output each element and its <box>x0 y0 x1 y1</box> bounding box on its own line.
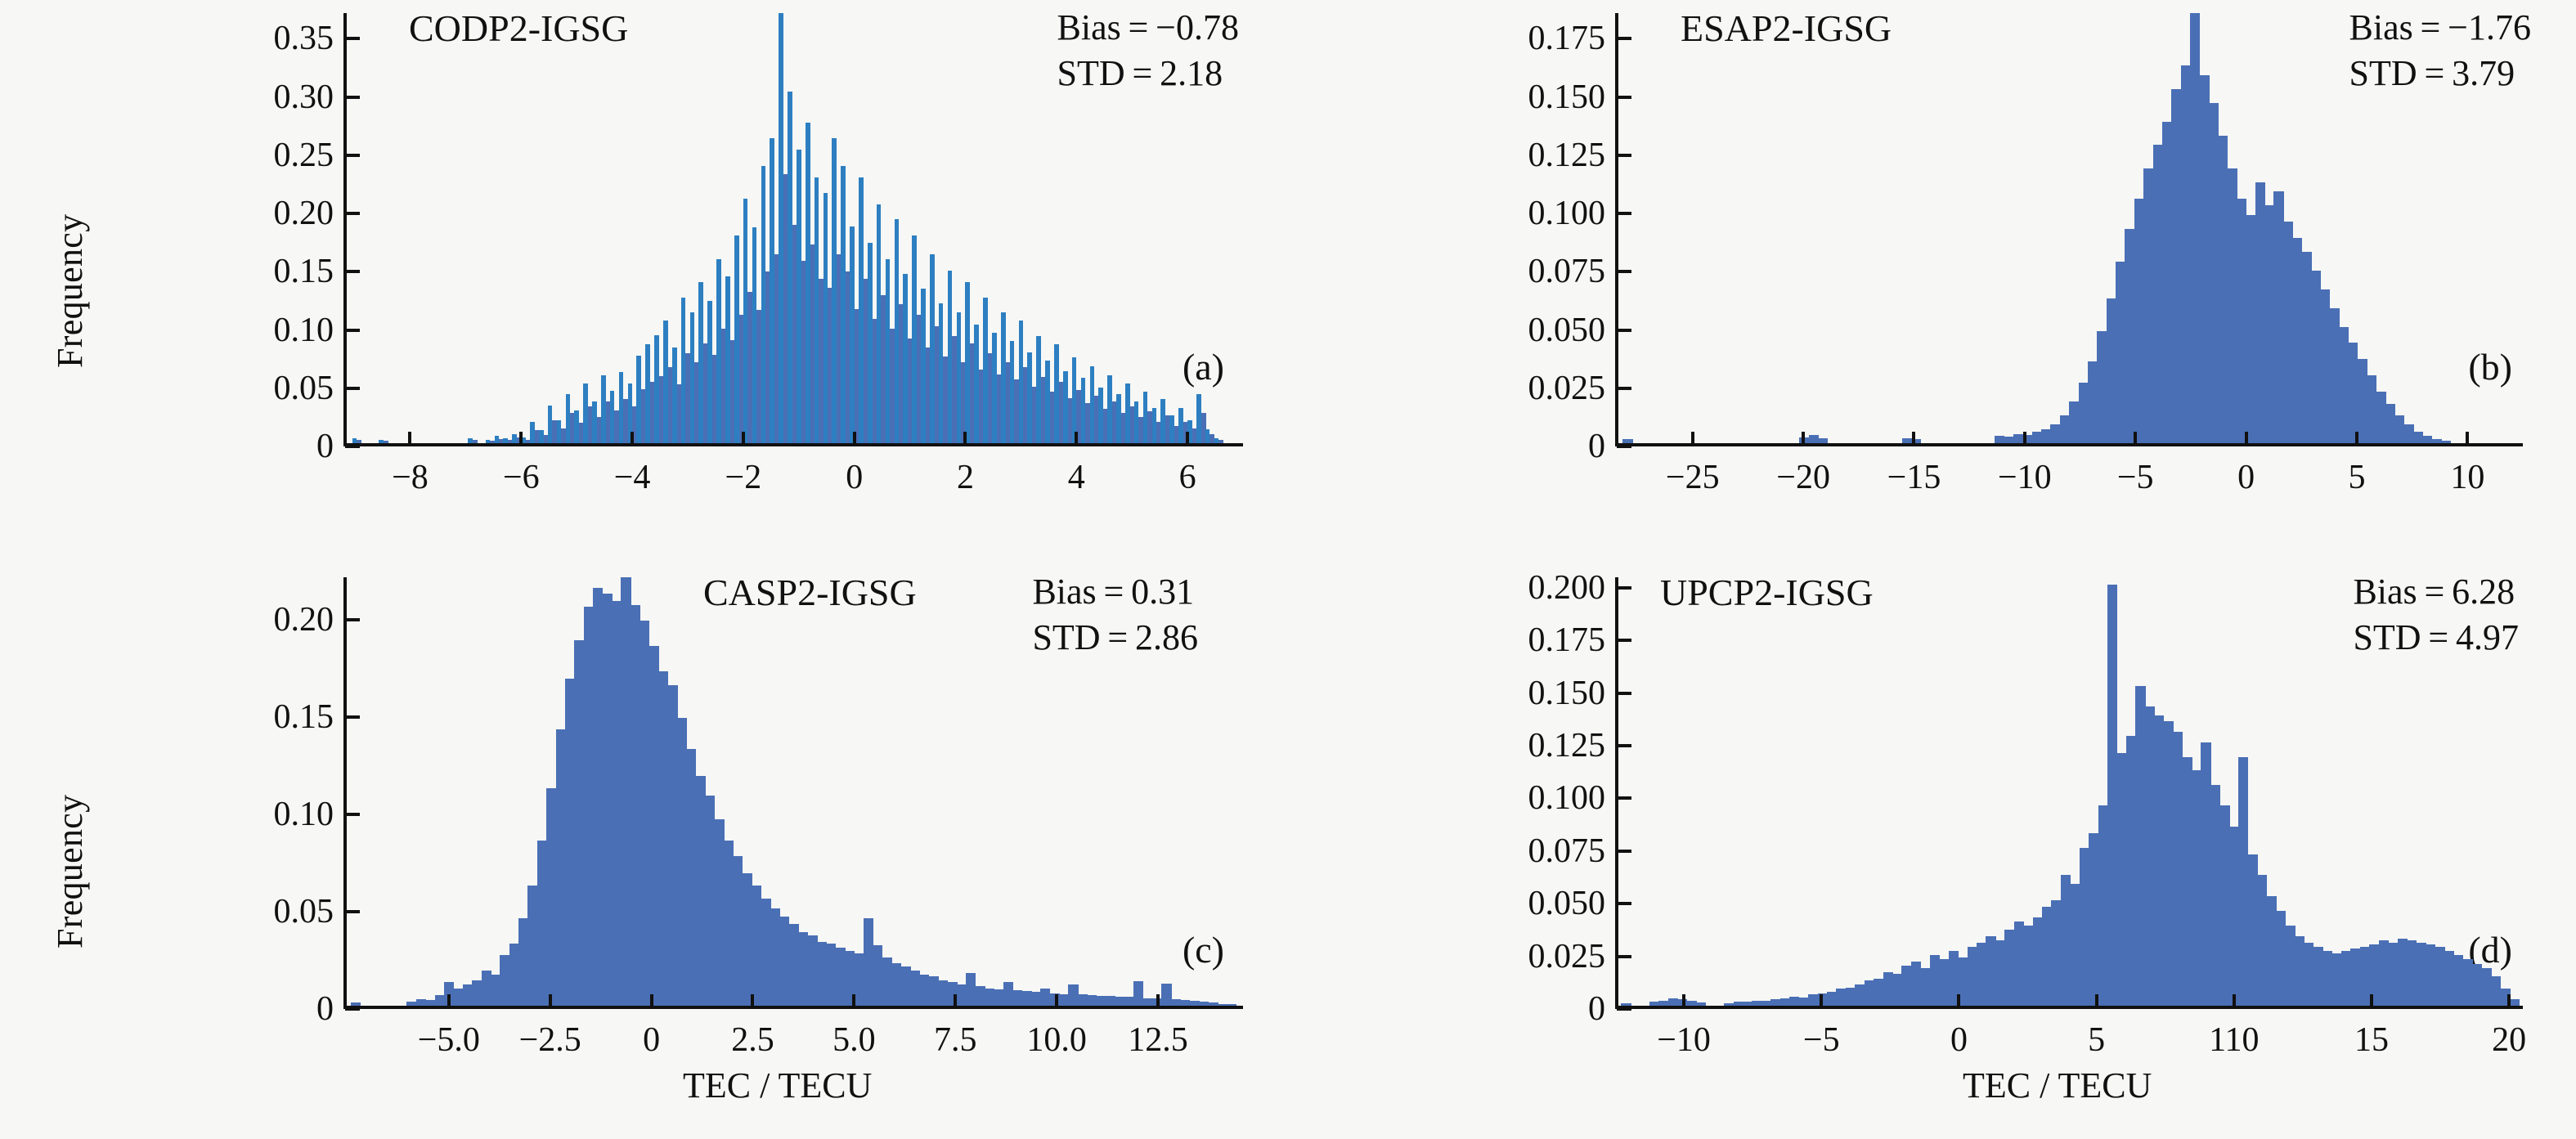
panel-d-ytick-mark <box>1617 850 1631 853</box>
histogram-bar <box>2183 757 2192 1006</box>
histogram-bar <box>574 410 579 443</box>
histogram-bar <box>841 166 846 443</box>
panel-c-xlabel: TEC / TECU <box>683 1065 872 1106</box>
histogram-bar <box>1208 1002 1218 1006</box>
histogram-bar <box>2209 103 2219 443</box>
histogram-bar <box>1827 992 1837 1006</box>
histogram-bar <box>2394 415 2404 443</box>
panel-b-bars <box>1618 13 2523 443</box>
histogram-bar <box>761 166 766 443</box>
histogram-bar <box>983 298 988 443</box>
panel-a: Frequency CODP2-IGSG Bias = −0.78 STD = … <box>0 0 1288 540</box>
histogram-bar <box>2080 848 2089 1006</box>
histogram-bar <box>1874 979 1883 1006</box>
histogram-bar <box>566 394 571 443</box>
histogram-bar <box>716 259 721 443</box>
histogram-bar <box>1001 312 1006 443</box>
panel-b-ytick-label: 0.150 <box>1425 78 1605 117</box>
histogram-bar <box>1134 401 1139 443</box>
panel-b-plot-area <box>1615 13 2523 446</box>
histogram-bar <box>2385 404 2395 443</box>
panel-d-xtick-label: 110 <box>2209 1020 2259 1060</box>
histogram-bar <box>2472 964 2482 1007</box>
histogram-bar <box>1911 962 1921 1006</box>
histogram-bar <box>1171 999 1181 1006</box>
panel-d-ytick-label: 0.100 <box>1425 778 1605 818</box>
histogram-bar <box>1761 1001 1771 1006</box>
histogram-bar <box>965 282 970 443</box>
panel-a-xtick-mark <box>519 432 523 445</box>
histogram-bar <box>2171 89 2181 443</box>
histogram-bar <box>2116 753 2126 1006</box>
histogram-bar <box>817 942 827 1006</box>
panel-d-ytick-label: 0.175 <box>1425 621 1605 660</box>
histogram-bar <box>2145 706 2155 1006</box>
histogram-bar <box>1019 321 1024 443</box>
histogram-bar <box>1977 943 1986 1006</box>
panel-a-xtick-mark <box>408 432 411 445</box>
histogram-bar <box>2079 383 2089 443</box>
histogram-bar <box>2350 948 2360 1006</box>
histogram-bar <box>2237 199 2246 443</box>
histogram-bar <box>557 420 562 443</box>
histogram-bar <box>1808 994 1818 1006</box>
panel-a-ytick-label: 0.20 <box>154 194 334 233</box>
histogram-bar <box>2014 922 2024 1006</box>
histogram-bar <box>1190 1001 1200 1006</box>
histogram-bar <box>1152 408 1157 443</box>
histogram-bar <box>663 321 668 443</box>
histogram-bar <box>2301 252 2311 443</box>
panel-b-ytick-label: 0.050 <box>1425 311 1605 350</box>
histogram-bar <box>1855 984 1865 1006</box>
histogram-bar <box>1743 1002 1752 1006</box>
panel-c-xtick-mark <box>751 994 754 1007</box>
histogram-bar <box>912 235 917 443</box>
panel-b-xtick-label: −25 <box>1666 458 1720 497</box>
panel-d-xtick-mark <box>2370 994 2373 1007</box>
histogram-bar <box>537 841 547 1006</box>
histogram-bar <box>2398 939 2408 1006</box>
histogram-bar <box>798 932 808 1006</box>
panel-d-xtick-mark <box>1820 994 1823 1007</box>
panel-d-ytick-label: 0.025 <box>1425 937 1605 976</box>
histogram-bar <box>2341 951 2351 1006</box>
histogram-bar <box>1883 972 1893 1006</box>
panel-c-xtick-label: −5.0 <box>418 1020 480 1060</box>
histogram-bar <box>1836 989 1846 1006</box>
histogram-bar <box>1770 999 1780 1006</box>
histogram-bar <box>2332 953 2342 1006</box>
histogram-bar <box>592 401 597 443</box>
histogram-bar <box>707 301 712 443</box>
histogram-bar <box>574 640 584 1006</box>
histogram-bar <box>743 873 752 1006</box>
panel-a-xtick-mark <box>1186 432 1189 445</box>
histogram-bar <box>530 422 535 443</box>
panel-b-ytick-label: 0.075 <box>1425 252 1605 291</box>
histogram-bar <box>621 577 631 1006</box>
histogram-bar <box>2311 271 2321 443</box>
panel-a-xtick-label: 2 <box>957 458 974 497</box>
panel-a-ytick-label: 0.05 <box>154 369 334 408</box>
panel-c-xtick-label: 5.0 <box>832 1020 876 1060</box>
histogram-bar <box>565 679 575 1006</box>
histogram-bar <box>2032 432 2042 443</box>
panel-a-xtick-mark <box>853 432 856 445</box>
panel-d-xtick-mark <box>1682 994 1685 1007</box>
histogram-bar <box>593 588 603 1006</box>
histogram-bar <box>1124 997 1134 1006</box>
panel-b-ytick-mark <box>1617 37 1631 40</box>
histogram-bar <box>2229 827 2239 1006</box>
histogram-bar <box>546 788 556 1006</box>
histogram-bar <box>556 729 566 1006</box>
panel-c-xtick-mark <box>549 994 552 1007</box>
histogram-bar <box>603 594 613 1006</box>
histogram-bar <box>789 924 799 1006</box>
panel-a-xtick-mark <box>742 432 745 445</box>
histogram-bar <box>645 344 650 443</box>
histogram-bar <box>919 975 929 1006</box>
histogram-bar <box>2173 732 2183 1006</box>
histogram-bar <box>2295 936 2304 1006</box>
histogram-bar <box>503 438 508 443</box>
histogram-bar <box>1724 1003 1734 1006</box>
panel-b: ESAP2-IGSG Bias = −1.76 STD = 3.79 (b) 0… <box>1288 0 2576 540</box>
histogram-bar <box>2135 686 2145 1006</box>
histogram-bar <box>752 886 761 1006</box>
panel-c-xtick-label: 0 <box>643 1020 660 1060</box>
histogram-bar <box>1621 1003 1631 1006</box>
histogram-bar <box>724 841 734 1006</box>
histogram-bar <box>992 333 997 443</box>
histogram-bar <box>2444 951 2454 1006</box>
histogram-bar <box>2426 944 2435 1006</box>
histogram-bar <box>2042 907 2052 1006</box>
histogram-bar <box>1180 1000 1190 1006</box>
panel-c-xtick-mark <box>650 994 653 1007</box>
panel-b-ytick-mark <box>1617 212 1631 215</box>
panel-b-ytick-mark <box>1617 270 1631 273</box>
histogram-bar <box>2061 875 2071 1006</box>
histogram-bar <box>1205 429 1210 443</box>
histogram-bar <box>779 917 789 1006</box>
histogram-bar <box>472 980 482 1006</box>
histogram-bar <box>1115 997 1124 1006</box>
histogram-bar <box>1196 394 1201 443</box>
histogram-bar <box>2060 415 2070 443</box>
panel-a-xtick-mark <box>1075 432 1078 445</box>
histogram-bar <box>2033 917 2043 1006</box>
histogram-bar <box>2376 392 2385 443</box>
histogram-bar <box>2238 757 2248 1006</box>
histogram-bar <box>1995 436 2004 443</box>
panel-c-xtick-label: 7.5 <box>934 1020 977 1060</box>
panel-b-xtick-mark <box>1912 432 1915 445</box>
panel-c: Frequency CASP2-IGSG Bias = 0.31 STD = 2… <box>0 564 1288 1139</box>
panel-b-ytick-mark <box>1617 445 1631 448</box>
histogram-bar <box>2088 361 2098 443</box>
histogram-bar <box>698 282 703 443</box>
histogram-bar <box>2004 437 2014 443</box>
histogram-bar <box>2153 145 2163 443</box>
histogram-bar <box>938 980 948 1006</box>
histogram-bar <box>826 944 836 1006</box>
histogram-bar <box>824 193 828 443</box>
histogram-bar <box>2304 943 2313 1006</box>
histogram-bar <box>509 944 519 1006</box>
histogram-bar <box>612 601 622 1006</box>
panel-d-xtick-label: 20 <box>2492 1020 2526 1060</box>
panel-d-ytick-mark <box>1617 692 1631 695</box>
histogram-bar <box>2164 721 2174 1006</box>
histogram-bar <box>1846 988 1856 1006</box>
histogram-bar <box>482 971 491 1006</box>
panel-d-ytick-mark <box>1617 1007 1631 1011</box>
histogram-bar <box>832 138 837 443</box>
histogram-bar <box>1986 936 1995 1006</box>
histogram-bar <box>1169 415 1174 443</box>
histogram-bar <box>957 312 962 443</box>
histogram-bar <box>453 989 463 1006</box>
histogram-bar <box>2407 940 2417 1006</box>
panel-c-xtick-label: 10.0 <box>1026 1020 1087 1060</box>
panel-a-xtick-label: −2 <box>725 458 762 497</box>
histogram-bar <box>815 177 819 443</box>
histogram-bar <box>2358 359 2367 443</box>
histogram-bar <box>910 971 920 1006</box>
panel-a-ytick-label: 0.15 <box>154 252 334 291</box>
panel-d-ytick-mark <box>1617 796 1631 800</box>
panel-d-xtick-mark <box>2233 994 2236 1007</box>
figure-root: Frequency CODP2-IGSG Bias = −0.78 STD = … <box>0 0 2576 1139</box>
histogram-bar <box>500 955 509 1006</box>
histogram-bar <box>2181 65 2191 443</box>
histogram-bar <box>1078 994 1088 1006</box>
panel-c-xtick-mark <box>954 994 957 1007</box>
histogram-bar <box>2154 715 2164 1006</box>
panel-c-ytick-label: 0.20 <box>154 600 334 639</box>
panel-b-xtick-label: 0 <box>2237 458 2255 497</box>
panel-d-ytick-label: 0 <box>1425 989 1605 1029</box>
panel-d-bars <box>1618 577 2523 1006</box>
panel-c-ytick-label: 0.05 <box>154 892 334 931</box>
panel-b-xtick-mark <box>2466 432 2469 445</box>
histogram-bar <box>584 607 594 1006</box>
panel-d-ytick-mark <box>1617 586 1631 590</box>
histogram-bar <box>1059 994 1069 1006</box>
histogram-bar <box>435 995 445 1006</box>
histogram-bar <box>1027 352 1032 443</box>
histogram-bar <box>761 899 770 1006</box>
panel-a-ytick-label: 0 <box>154 427 334 466</box>
histogram-bar <box>1622 439 1632 443</box>
histogram-bar <box>1097 996 1106 1006</box>
histogram-bar <box>994 989 1003 1006</box>
histogram-bar <box>527 886 537 1006</box>
histogram-bar <box>2219 805 2229 1006</box>
panel-a-ytick-mark <box>345 154 360 157</box>
histogram-bar <box>891 963 901 1006</box>
panel-b-xtick-mark <box>2355 432 2358 445</box>
panel-c-ytick-mark <box>345 813 360 816</box>
histogram-bar <box>1199 1002 1209 1006</box>
panel-a-ytick-label: 0.35 <box>154 19 334 58</box>
histogram-bar <box>1068 984 1078 1006</box>
histogram-bar <box>1081 378 1086 443</box>
histogram-bar <box>2070 884 2080 1006</box>
panel-c-ytick-mark <box>345 1007 360 1011</box>
histogram-bar <box>2069 401 2079 443</box>
histogram-bar <box>705 796 715 1006</box>
histogram-bar <box>681 298 686 443</box>
histogram-bar <box>882 957 892 1006</box>
histogram-bar <box>2320 289 2330 443</box>
panel-c-xtick-mark <box>1156 994 1160 1007</box>
histogram-bar <box>921 289 926 443</box>
histogram-bar <box>2432 439 2442 443</box>
panel-d-ytick-label: 0.125 <box>1425 726 1605 765</box>
histogram-bar <box>2116 262 2125 443</box>
histogram-bar <box>636 356 641 443</box>
histogram-bar <box>425 1000 435 1006</box>
histogram-bar <box>1054 344 1059 443</box>
histogram-bar <box>1161 984 1171 1006</box>
panel-a-ytick-mark <box>345 212 360 215</box>
histogram-bar <box>976 986 985 1006</box>
histogram-bar <box>1752 1001 1761 1006</box>
panel-b-xtick-mark <box>1802 432 1805 445</box>
histogram-bar <box>1214 438 1219 443</box>
histogram-bar <box>1780 998 1790 1006</box>
panel-d-xlabel: TEC / TECU <box>1963 1065 2152 1106</box>
panel-a-ytick-label: 0.30 <box>154 78 334 117</box>
panel-a-ytick-label: 0.10 <box>154 311 334 350</box>
histogram-bar <box>797 150 801 443</box>
histogram-bar <box>2422 436 2432 443</box>
histogram-bar <box>2013 434 2023 443</box>
panel-a-xtick-label: 0 <box>846 458 863 497</box>
histogram-bar <box>2413 432 2423 443</box>
histogram-bar <box>2510 999 2520 1006</box>
histogram-bar <box>2107 298 2116 443</box>
histogram-bar <box>1098 388 1103 443</box>
panel-d-xtick-label: −5 <box>1803 1020 1840 1060</box>
histogram-bar <box>690 312 695 443</box>
histogram-bar <box>2050 424 2060 443</box>
histogram-bar <box>486 440 491 443</box>
histogram-bar <box>2292 238 2302 443</box>
histogram-bar <box>2266 896 2276 1006</box>
histogram-bar <box>2416 943 2426 1006</box>
histogram-bar <box>601 375 606 443</box>
panel-b-ytick-label: 0 <box>1425 427 1605 466</box>
panel-a-xtick-label: −6 <box>503 458 540 497</box>
histogram-bar <box>1021 991 1031 1006</box>
panel-b-ytick-label: 0.100 <box>1425 194 1605 233</box>
panel-a-ytick-mark <box>345 387 360 390</box>
panel-d-ytick-mark <box>1617 639 1631 642</box>
histogram-bar <box>518 918 528 1006</box>
histogram-bar <box>1178 408 1183 443</box>
histogram-bar <box>649 646 659 1006</box>
histogram-bar <box>2248 854 2258 1006</box>
panel-b-xtick-mark <box>2134 432 2137 445</box>
histogram-bar <box>886 259 891 443</box>
panel-d-xtick-mark <box>1957 994 1960 1007</box>
histogram-bar <box>2285 926 2295 1006</box>
histogram-bar <box>1668 998 1678 1006</box>
panel-b-xtick-label: −15 <box>1887 458 1941 497</box>
panel-a-ytick-mark <box>345 37 360 40</box>
histogram-bar <box>1040 989 1050 1006</box>
histogram-bar <box>2098 805 2108 1006</box>
panel-c-ytick-mark <box>345 715 360 719</box>
histogram-bar <box>752 227 757 443</box>
panel-d-xtick-mark <box>2095 994 2098 1007</box>
histogram-bar <box>1107 375 1112 443</box>
histogram-bar <box>1789 997 1799 1006</box>
panel-d-ytick-label: 0.075 <box>1425 832 1605 871</box>
histogram-bar <box>1003 982 1013 1006</box>
panel-c-ytick-mark <box>345 910 360 913</box>
panel-c-plot-area <box>343 577 1243 1009</box>
histogram-bar <box>2051 900 2061 1006</box>
histogram-bar <box>2435 947 2444 1006</box>
histogram-bar <box>463 984 473 1006</box>
histogram-bar <box>672 348 677 443</box>
histogram-bar <box>1734 1002 1744 1006</box>
histogram-bar <box>2273 191 2283 443</box>
histogram-bar <box>686 749 696 1006</box>
histogram-bar <box>654 335 659 444</box>
panel-b-ytick-label: 0.175 <box>1425 19 1605 58</box>
panel-d-ytick-mark <box>1617 955 1631 958</box>
histogram-bar <box>2264 205 2274 443</box>
histogram-bar <box>930 254 935 443</box>
histogram-bar <box>1133 981 1143 1006</box>
histogram-bar <box>985 989 994 1006</box>
histogram-bar <box>2143 168 2153 443</box>
histogram-bar <box>2089 833 2098 1006</box>
panel-d-xtick-label: −10 <box>1657 1020 1711 1060</box>
histogram-bar <box>743 199 748 443</box>
panel-b-xtick-mark <box>2023 432 2026 445</box>
histogram-bar <box>2041 429 2051 443</box>
histogram-bar <box>788 92 792 443</box>
histogram-bar <box>2257 875 2267 1006</box>
histogram-bar <box>868 243 873 443</box>
histogram-bar <box>957 984 967 1006</box>
histogram-bar <box>2162 122 2172 443</box>
histogram-bar <box>1809 435 1819 443</box>
histogram-bar <box>1031 992 1041 1006</box>
panel-a-ytick-label: 0.25 <box>154 136 334 175</box>
histogram-bar <box>2441 441 2451 443</box>
panel-b-ytick-mark <box>1617 96 1631 99</box>
histogram-bar <box>2125 229 2134 443</box>
histogram-bar <box>1012 990 1022 1006</box>
histogram-bar <box>548 406 553 443</box>
histogram-bar <box>1227 1004 1236 1006</box>
histogram-bar <box>1902 438 1912 443</box>
histogram-bar <box>929 976 939 1006</box>
panel-a-xtick-mark <box>963 432 967 445</box>
panel-b-ytick-label: 0.025 <box>1425 369 1605 408</box>
histogram-bar <box>1143 998 1153 1007</box>
panel-b-ytick-mark <box>1617 154 1631 157</box>
